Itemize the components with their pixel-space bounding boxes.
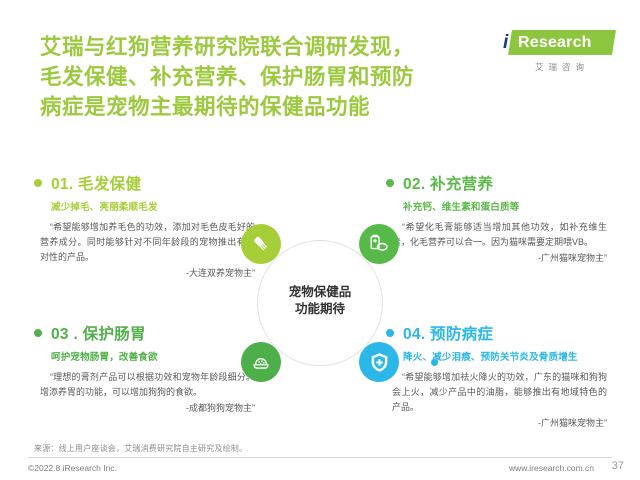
diagram-node-hair-care[interactable]	[241, 224, 281, 264]
iresearch-logo: i Research 艾瑞咨询	[498, 30, 616, 76]
section-01-header: 01. 毛发保健	[34, 172, 284, 194]
center-diagram: 宠物保健品 功能期待	[245, 228, 395, 378]
bullet-dot-icon	[386, 179, 394, 187]
website-url: www.iresearch.com.cn	[509, 463, 594, 473]
section-block-02: 02. 补充营养 补充钙、维生素和蛋白质等 “希望化毛膏能够适当增加其他功效，如…	[386, 172, 636, 266]
page-title: 艾瑞与红狗营养研究院联合调研发现， 毛发保健、补充营养、保护肠胃和预防 病症是宠…	[40, 32, 480, 122]
section-01-quote-text: “希望能够增加养毛色的功效，添加对毛色皮毛好的营养成分。同时能够针对不同年龄段的…	[40, 222, 255, 262]
section-04-quote-source: -广州猫咪宠物主”	[392, 416, 607, 431]
diagram-node-nutrition[interactable]	[359, 224, 399, 264]
section-02-title: 02. 补充营养	[403, 172, 493, 194]
copyright-text: ©2022.8 iResearch Inc.	[28, 463, 117, 473]
section-01-quote: “希望能够增加养毛色的功效，添加对毛色皮毛好的营养成分。同时能够针对不同年龄段的…	[40, 220, 255, 281]
section-02-quote: “希望化毛膏能够适当增加其他功效，如补充维生素，化毛营养可以合一。因为猫咪需要定…	[392, 220, 607, 266]
comb-icon	[250, 233, 272, 255]
logo-i-letter: i	[503, 32, 508, 54]
center-label-line-2: 功能期待	[245, 301, 395, 318]
section-04-title: 04. 预防病症	[403, 322, 493, 344]
diagram-center-label: 宠物保健品 功能期待	[245, 284, 395, 318]
section-04-quote: “希望能够增加祛火降火的功效，广东的猫咪和狗狗会上火，减少产品中的油脂，能够推出…	[392, 370, 607, 431]
section-02-header: 02. 补充营养	[386, 172, 636, 194]
page-number: 37	[612, 460, 624, 472]
source-note: 来源：线上用户座谈会，艾瑞消费研究院自主研究及绘制。	[34, 443, 247, 454]
section-04-header: 04. 预防病症	[386, 322, 636, 344]
diagram-node-digestive[interactable]	[241, 342, 281, 382]
section-03-quote-source: -成都狗狗宠物主”	[40, 401, 255, 416]
section-04-quote-text: “希望能够增加祛火降火的功效，广东的猫咪和狗狗会上火，减少产品中的油脂，能够推出…	[392, 372, 607, 412]
diagram-node-disease-prevention[interactable]	[359, 342, 399, 382]
section-03-title: 03 . 保护肠胃	[51, 322, 146, 344]
logo-subtitle: 艾瑞咨询	[498, 61, 616, 73]
center-label-line-1: 宠物保健品	[245, 284, 395, 301]
footer-divider	[28, 457, 612, 458]
section-02-subtitle: 补充钙、维生素和蛋白质等	[403, 199, 636, 213]
slide-canvas: 艾瑞与红狗营养研究院联合调研发现， 毛发保健、补充营养、保护肠胃和预防 病症是宠…	[0, 0, 640, 480]
section-01-subtitle: 减少掉毛、亮丽柔顺毛发	[51, 199, 284, 213]
bullet-dot-icon	[34, 179, 42, 187]
diagram-accent-dot	[431, 359, 438, 366]
supplement-jar-icon	[368, 233, 390, 255]
logo-wordmark: Research	[518, 33, 592, 53]
section-01-title: 01. 毛发保健	[51, 172, 141, 194]
food-bowl-icon	[250, 351, 272, 373]
title-line-2: 毛发保健、补充营养、保护肠胃和预防	[40, 62, 480, 92]
bullet-dot-icon	[34, 329, 42, 337]
title-line-3: 病症是宠物主最期待的保健品功能	[40, 92, 480, 122]
logo-mark: i Research	[498, 30, 616, 56]
section-02-quote-source: -广州猫咪宠物主”	[392, 251, 607, 266]
section-03-quote: “理想的膏剂产品可以根据功效和宠物年龄段细分。增添养胃的功能，可以增加狗狗的食欲…	[40, 370, 255, 416]
shield-health-icon	[368, 351, 391, 374]
section-03-quote-text: “理想的膏剂产品可以根据功效和宠物年龄段细分。增添养胃的功能，可以增加狗狗的食欲…	[40, 372, 255, 397]
title-line-1: 艾瑞与红狗营养研究院联合调研发现，	[40, 32, 480, 62]
section-block-04: 04. 预防病症 降火、减少泪痕、预防关节炎及骨质增生 “希望能够增加祛火降火的…	[386, 322, 636, 431]
section-01-quote-source: -大连双养宠物主”	[40, 266, 255, 281]
section-02-quote-text: “希望化毛膏能够适当增加其他功效，如补充维生素，化毛营养可以合一。因为猫咪需要定…	[392, 222, 607, 247]
